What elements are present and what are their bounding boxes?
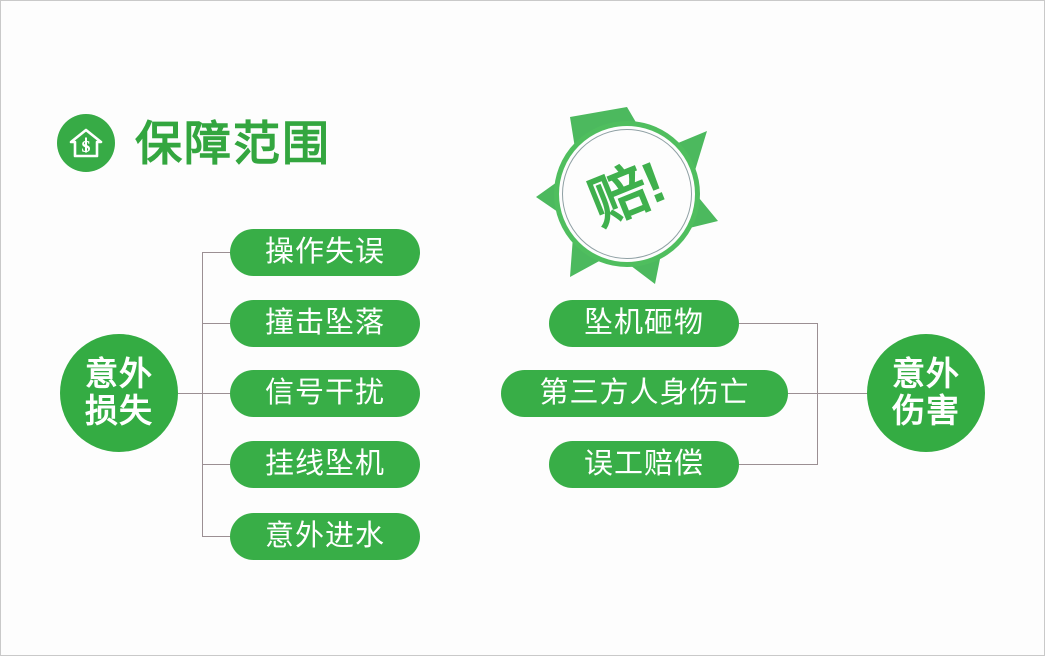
- infographic-canvas: S 保障范围 赔! 意外 损失 意外 伤害 操作失误 撞击坠落: [0, 0, 1045, 656]
- node-accidental-loss[interactable]: 意外 损失: [60, 334, 178, 452]
- right-connector-stub-3: [739, 464, 818, 465]
- right-connector-spine: [817, 323, 818, 465]
- node-label-line-1: 意外: [85, 356, 153, 393]
- pill-left-4[interactable]: 挂线坠机: [230, 441, 420, 488]
- badge-text: 赔!: [582, 153, 672, 234]
- pill-left-2[interactable]: 撞击坠落: [230, 300, 420, 347]
- pill-right-3[interactable]: 误工赔偿: [549, 441, 739, 488]
- right-connector-trunk: [817, 393, 871, 394]
- left-connector-stub-3: [202, 393, 230, 394]
- house-dollar-icon: S: [57, 114, 115, 172]
- left-connector-stub-5: [202, 536, 230, 537]
- left-connector-stub-4: [202, 464, 230, 465]
- page-header: S 保障范围: [57, 114, 331, 172]
- left-connector-spine: [202, 252, 203, 536]
- pill-right-2[interactable]: 第三方人身伤亡: [501, 370, 788, 417]
- left-connector-stub-1: [202, 252, 230, 253]
- right-connector-stub-1: [739, 323, 818, 324]
- node-accidental-injury[interactable]: 意外 伤害: [867, 334, 985, 452]
- left-connector-stub-2: [202, 323, 230, 324]
- pill-left-5[interactable]: 意外进水: [230, 513, 420, 560]
- claim-seal-badge: 赔!: [532, 101, 722, 291]
- pill-left-1[interactable]: 操作失误: [230, 229, 420, 276]
- node-label-line-1: 意外: [892, 356, 960, 393]
- node-label-line-2: 伤害: [892, 393, 960, 430]
- pill-right-1[interactable]: 坠机砸物: [549, 300, 739, 347]
- node-label-line-2: 损失: [85, 393, 153, 430]
- right-connector-stub-2: [787, 393, 818, 394]
- pill-left-3[interactable]: 信号干扰: [230, 370, 420, 417]
- page-title: 保障范围: [135, 120, 331, 167]
